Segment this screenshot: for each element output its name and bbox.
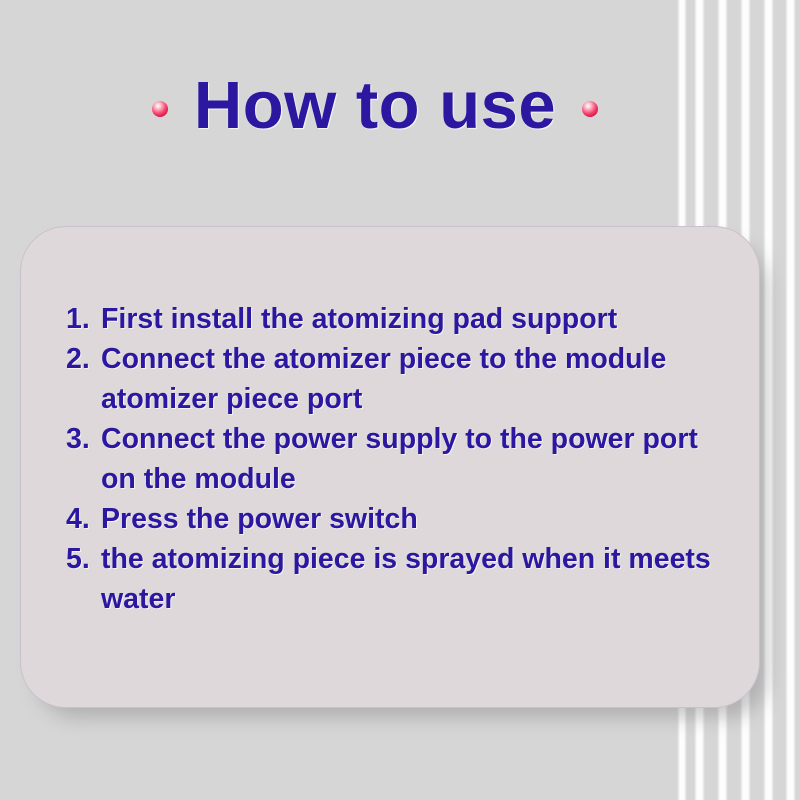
step-number: 4. — [66, 499, 90, 539]
list-item: 5. the atomizing piece is sprayed when i… — [66, 539, 735, 619]
page-title: How to use — [194, 72, 556, 139]
step-number: 1. — [66, 299, 90, 339]
step-number: 3. — [66, 419, 90, 459]
list-item: 3. Connect the power supply to the power… — [66, 419, 735, 499]
step-number: 5. — [66, 539, 90, 579]
slide-canvas: How to use 1. First install the atomizin… — [0, 0, 800, 800]
step-text: Press the power switch — [101, 499, 735, 539]
list-item: 1. First install the atomizing pad suppo… — [66, 299, 735, 339]
steps-list: 1. First install the atomizing pad suppo… — [66, 299, 735, 619]
step-text: First install the atomizing pad support — [101, 299, 735, 339]
instructions-card: 1. First install the atomizing pad suppo… — [20, 226, 760, 708]
list-item: 2. Connect the atomizer piece to the mod… — [66, 339, 735, 419]
step-text: the atomizing piece is sprayed when it m… — [101, 539, 735, 619]
step-text: Connect the atomizer piece to the module… — [101, 339, 735, 419]
right-sphere-bullet-icon — [582, 101, 598, 117]
left-sphere-bullet-icon — [152, 101, 168, 117]
step-text: Connect the power supply to the power po… — [101, 419, 735, 499]
step-number: 2. — [66, 339, 90, 379]
list-item: 4. Press the power switch — [66, 499, 735, 539]
title-row: How to use — [0, 58, 750, 153]
